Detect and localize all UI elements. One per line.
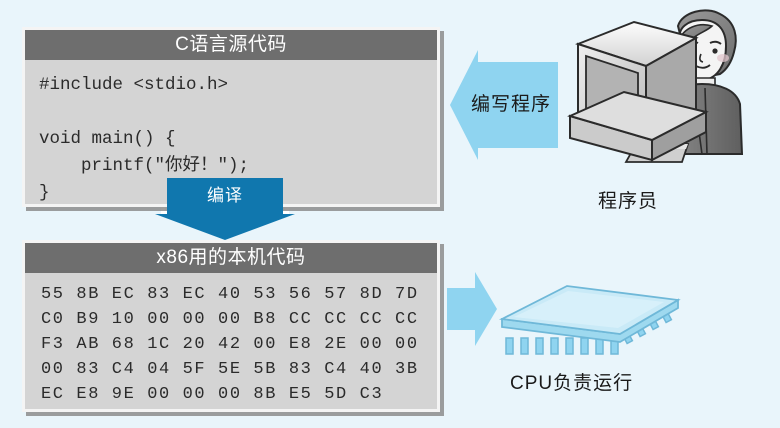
compile-arrow-label: 编译 (167, 178, 283, 214)
compile-arrow: 编译 (167, 178, 283, 214)
cpu-chip-icon (492, 280, 682, 365)
cpu-caption: CPU负责运行 (510, 368, 633, 395)
programmer-caption: 程序员 (598, 186, 658, 213)
diagram-canvas: C语言源代码 #include <stdio.h> void main() { … (0, 0, 780, 428)
run-arrow (447, 288, 475, 330)
source-code-panel-title: C语言源代码 (25, 30, 437, 60)
native-code-panel: x86用的本机代码 55 8B EC 83 EC 40 53 56 57 8D … (22, 240, 440, 412)
write-program-arrow-label: 编写程序 (456, 62, 566, 148)
native-code-panel-title: x86用的本机代码 (25, 243, 437, 273)
programmer-icon (560, 4, 770, 184)
write-program-arrow: 编写程序 (478, 62, 558, 148)
native-code-hexdump: 55 8B EC 83 EC 40 53 56 57 8D 7D C0 B9 1… (25, 273, 437, 416)
